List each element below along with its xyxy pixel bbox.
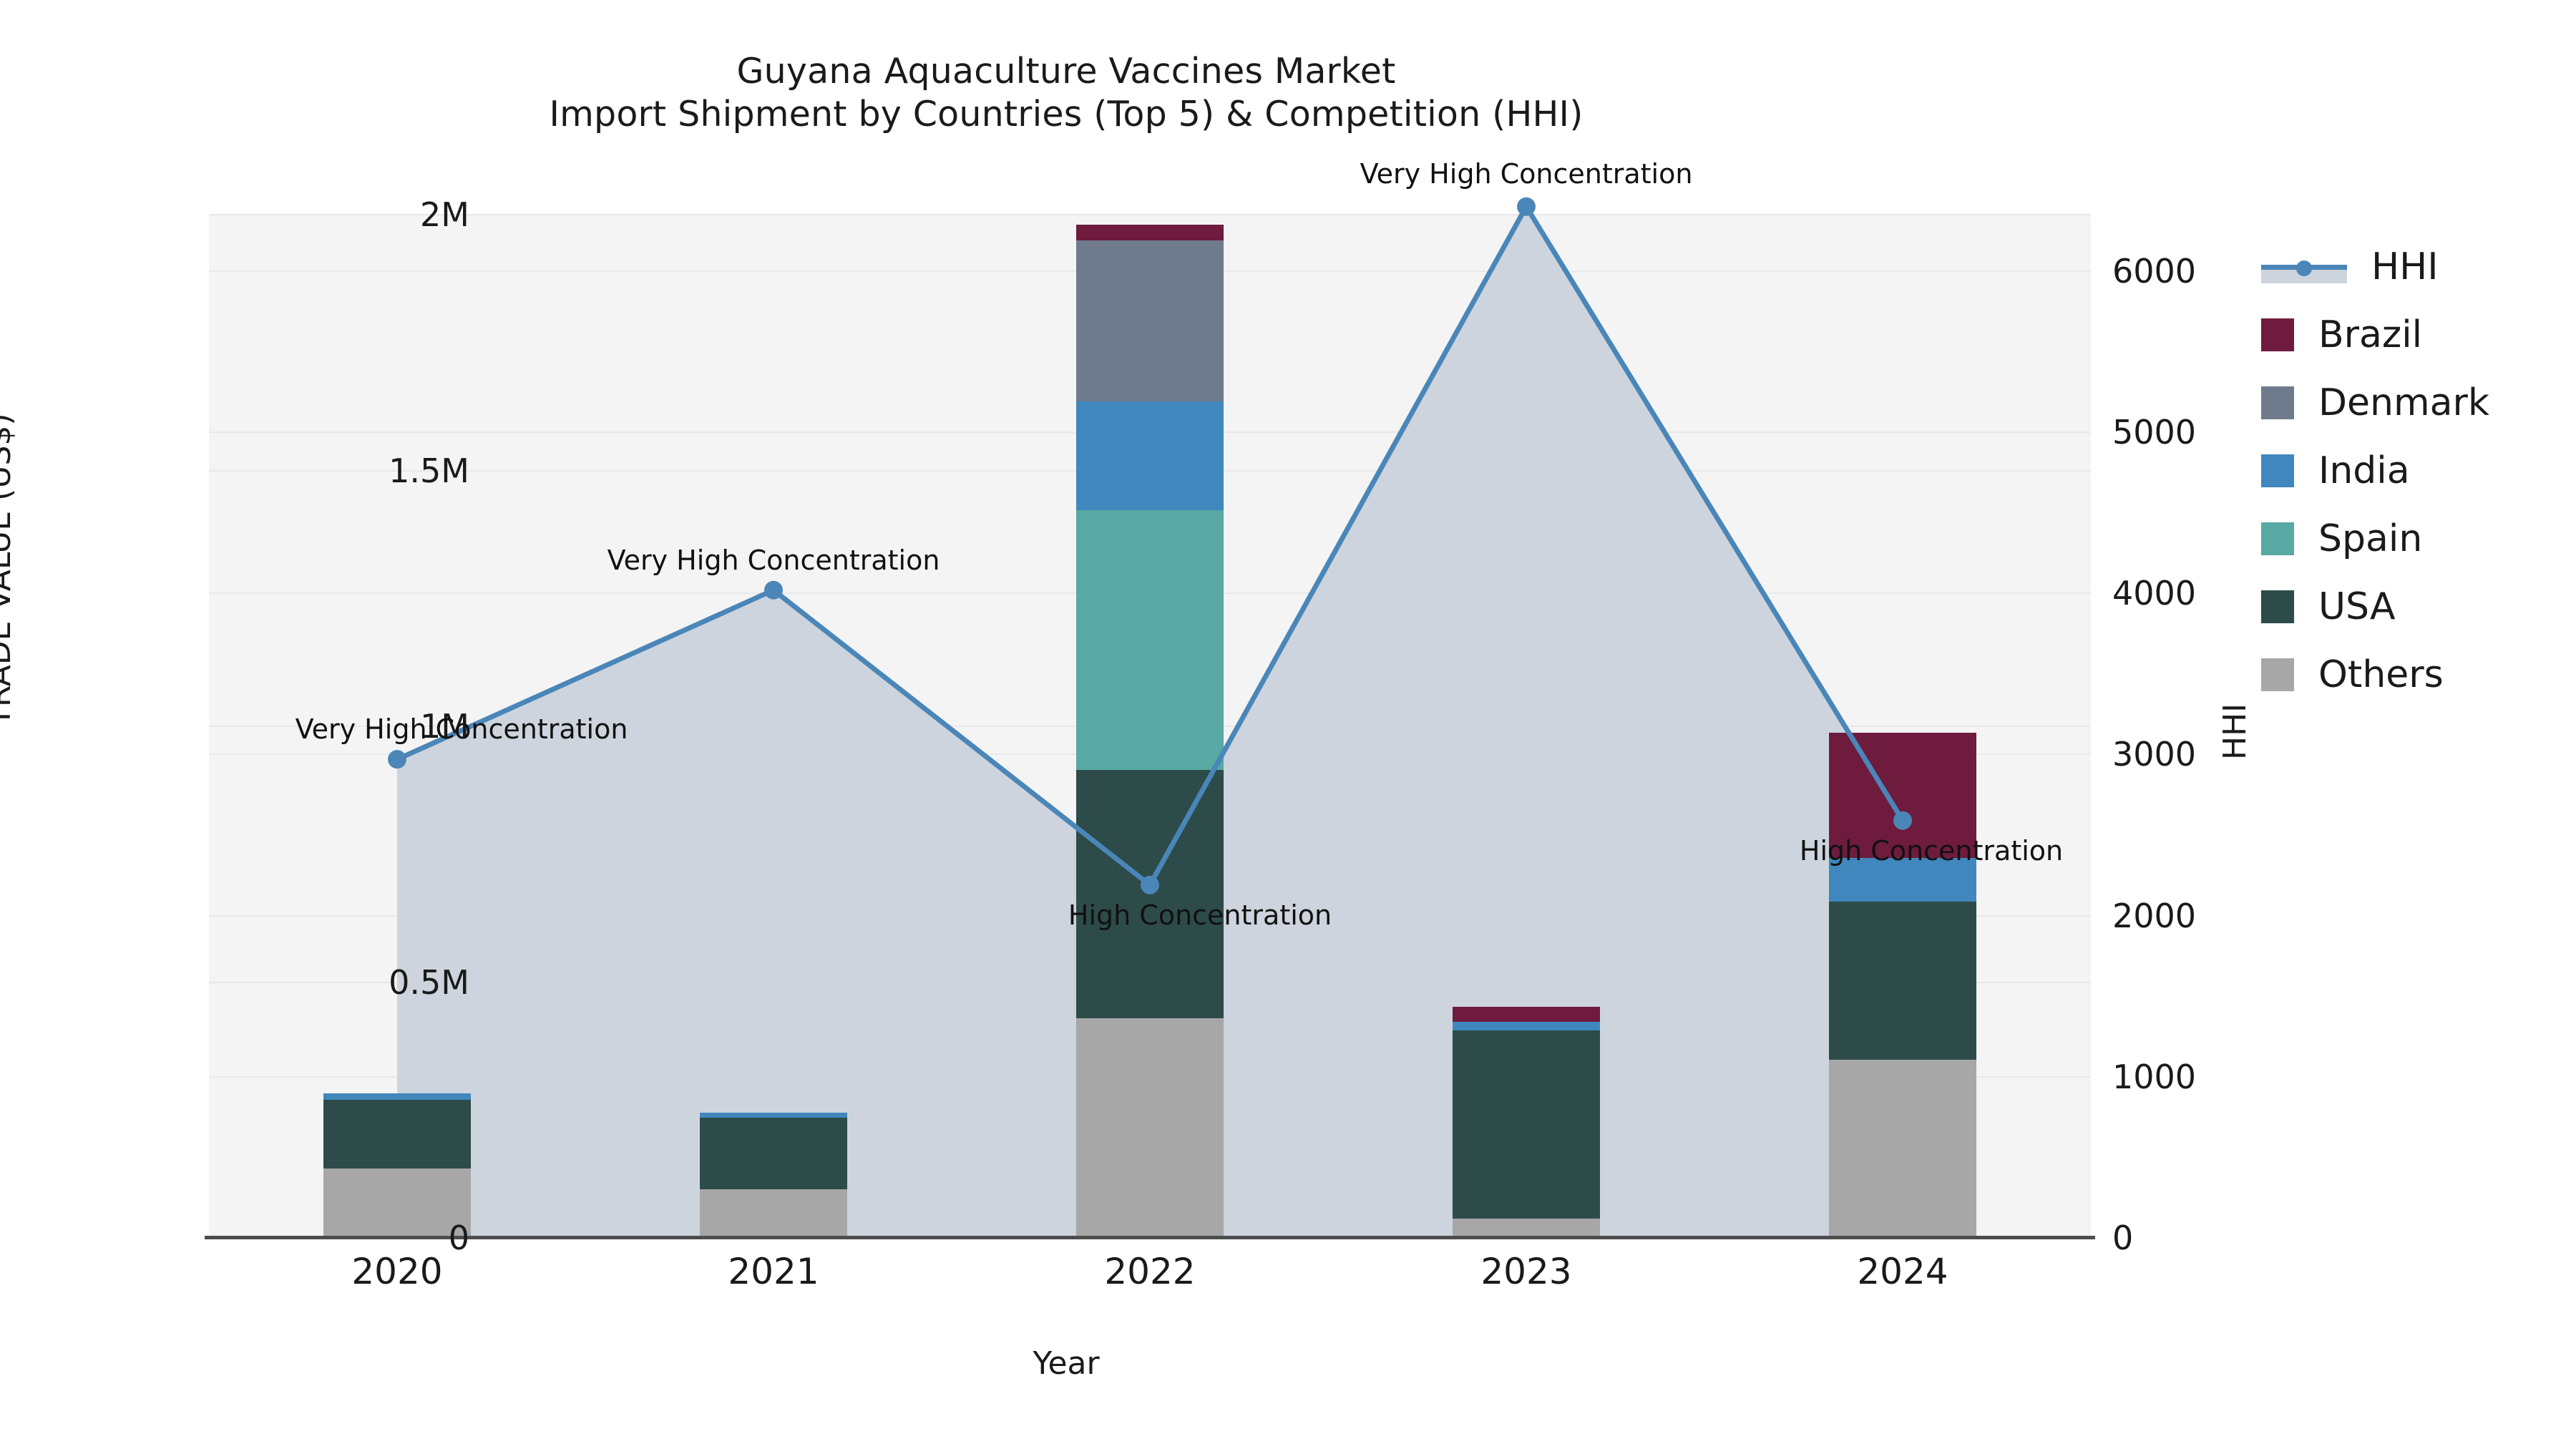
- concentration-annotation: High Concentration: [1068, 899, 1332, 931]
- hhi-marker[interactable]: [388, 750, 406, 769]
- y-axis-right-label: HHI: [2217, 703, 2253, 760]
- hhi-marker[interactable]: [764, 581, 783, 600]
- legend-label: Others: [2318, 653, 2444, 696]
- hhi-marker[interactable]: [1517, 197, 1536, 216]
- legend-label: Spain: [2318, 517, 2422, 560]
- legend-line-marker: [2261, 250, 2347, 283]
- legend-label: USA: [2318, 585, 2396, 628]
- concentration-annotation: Very High Concentration: [1360, 158, 1693, 190]
- legend-item-hhi[interactable]: HHI: [2261, 233, 2489, 301]
- concentration-annotation: Very High Concentration: [608, 545, 940, 576]
- legend-swatch: [2261, 454, 2294, 487]
- y-tick-label-left: 1.5M: [389, 452, 469, 490]
- legend-swatch: [2261, 386, 2294, 419]
- legend-label: Brazil: [2318, 313, 2422, 356]
- legend: HHIBrazilDenmarkIndiaSpainUSAOthers: [2261, 233, 2489, 708]
- legend-item-denmark[interactable]: Denmark: [2261, 369, 2489, 436]
- legend-swatch: [2261, 318, 2294, 351]
- legend-item-brazil[interactable]: Brazil: [2261, 301, 2489, 369]
- chart-canvas: Guyana Aquaculture Vaccines Market Impor…: [0, 0, 2576, 1449]
- y-tick-label-right: 0: [2112, 1219, 2133, 1257]
- legend-item-india[interactable]: India: [2261, 436, 2489, 504]
- page-title: Guyana Aquaculture Vaccines Market: [0, 50, 2132, 93]
- x-tick-label: 2024: [1857, 1251, 1948, 1292]
- legend-item-others[interactable]: Others: [2261, 640, 2489, 708]
- y-tick-label-right: 5000: [2112, 413, 2196, 452]
- y-tick-label-right: 4000: [2112, 574, 2196, 613]
- y-tick-label-left: 2M: [420, 195, 469, 234]
- legend-swatch: [2261, 590, 2294, 623]
- concentration-annotation: Very High Concentration: [296, 713, 628, 745]
- y-axis-left-label: TRADE VALUE (US$): [0, 413, 18, 726]
- y-tick-label-right: 6000: [2112, 252, 2196, 291]
- x-tick-label: 2023: [1480, 1251, 1571, 1292]
- y-tick-label-left: 0.5M: [389, 963, 469, 1002]
- legend-swatch: [2261, 658, 2294, 691]
- x-tick-label: 2022: [1104, 1251, 1195, 1292]
- legend-label: India: [2318, 449, 2410, 492]
- y-tick-label-right: 1000: [2112, 1058, 2196, 1096]
- legend-label: Denmark: [2318, 381, 2489, 424]
- legend-item-spain[interactable]: Spain: [2261, 504, 2489, 572]
- concentration-annotation: High Concentration: [1800, 835, 2063, 867]
- x-tick-label: 2020: [351, 1251, 442, 1292]
- hhi-marker[interactable]: [1141, 876, 1159, 894]
- legend-label: HHI: [2371, 245, 2439, 288]
- y-tick-label-right: 2000: [2112, 897, 2196, 935]
- x-tick-label: 2021: [728, 1251, 819, 1292]
- x-axis-label: Year: [0, 1345, 2132, 1382]
- legend-item-usa[interactable]: USA: [2261, 572, 2489, 640]
- y-tick-label-left: 0: [449, 1219, 469, 1257]
- chart-title-block: Guyana Aquaculture Vaccines Market Impor…: [0, 50, 2132, 136]
- hhi-marker[interactable]: [1893, 811, 1912, 830]
- chart-subtitle: Import Shipment by Countries (Top 5) & C…: [0, 93, 2132, 136]
- legend-swatch: [2261, 522, 2294, 555]
- y-tick-label-right: 3000: [2112, 735, 2196, 774]
- x-axis-line: [205, 1236, 2095, 1239]
